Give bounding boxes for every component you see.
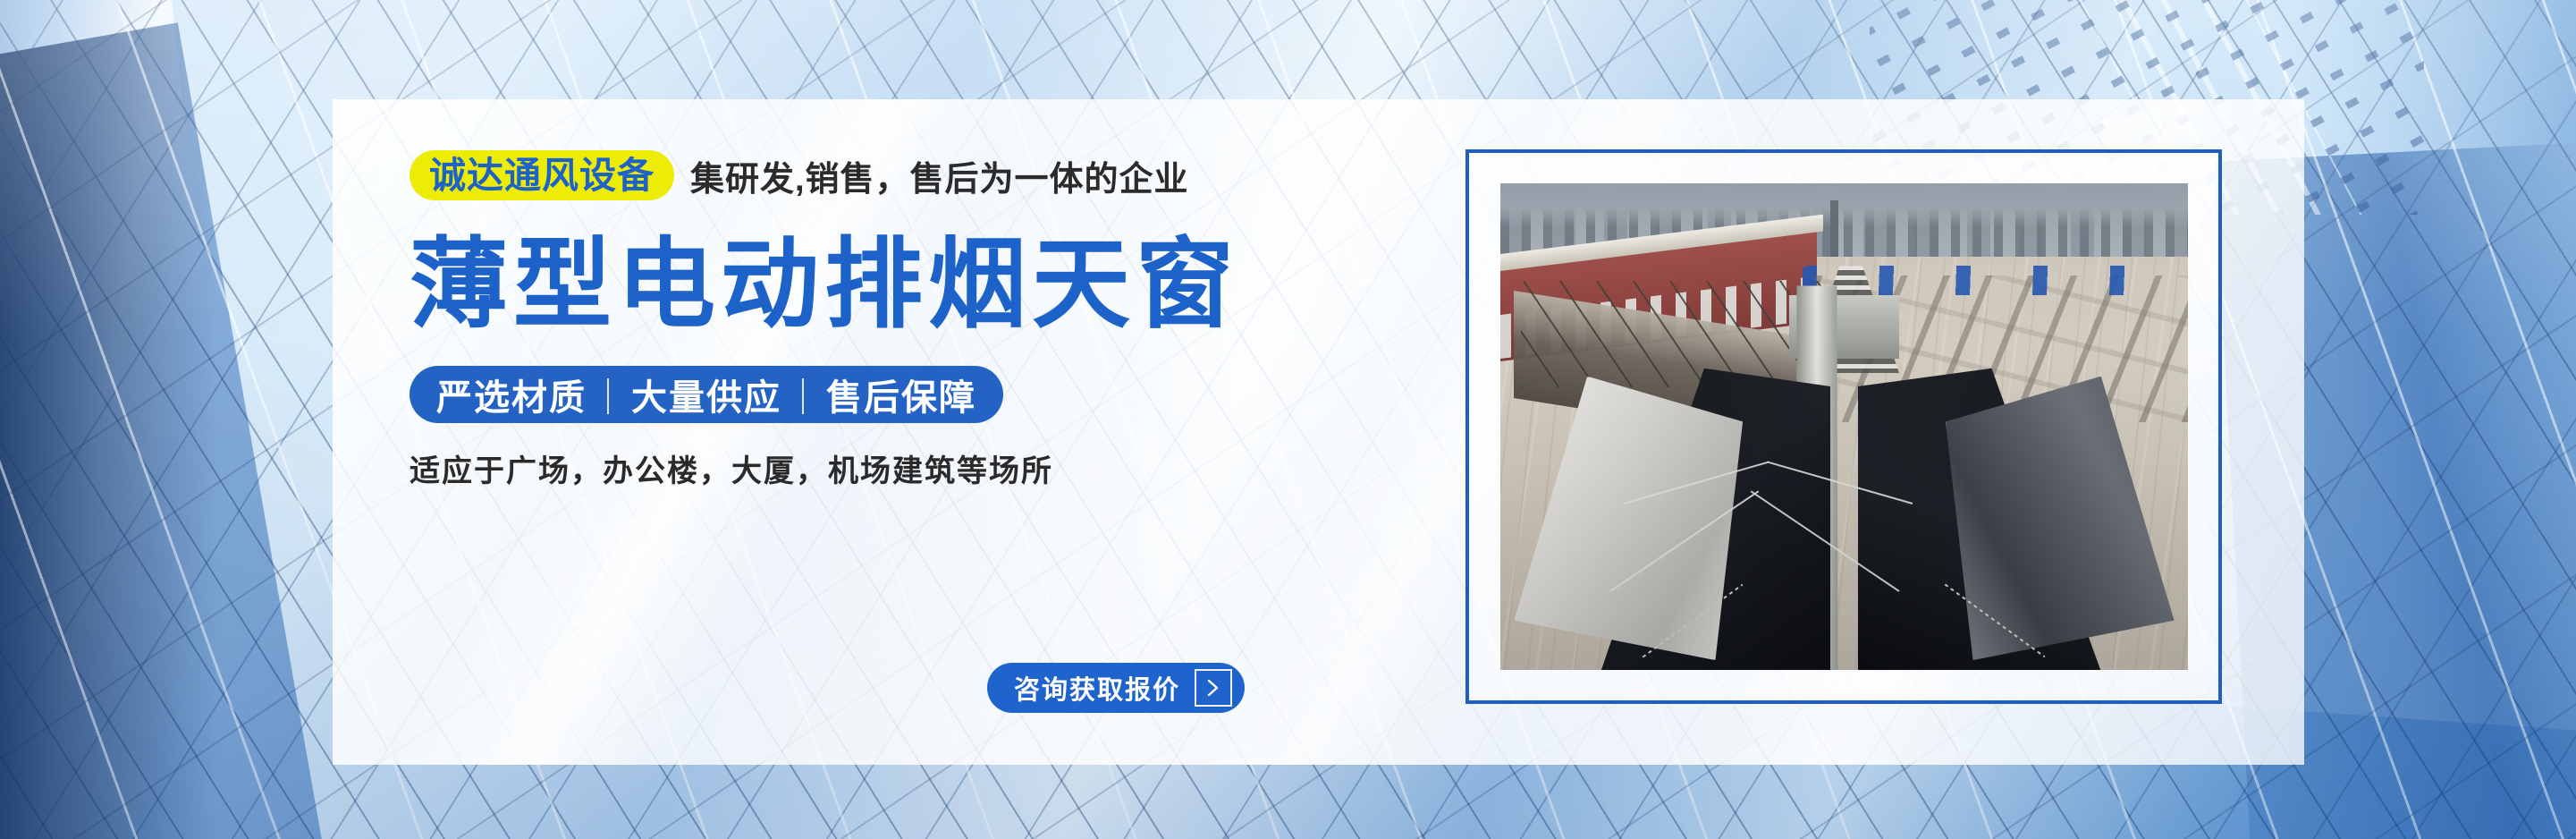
feature-item-1: 严选材质 xyxy=(436,369,587,420)
chevron-right-icon xyxy=(1195,669,1232,707)
product-photo-frame xyxy=(1465,149,2222,704)
tagline-row: 诚达通风设备 集研发,销售，售后为一体的企业 xyxy=(410,143,1384,208)
feature-bar: 严选材质 ｜ 大量供应 ｜ 售后保障 xyxy=(410,366,1003,423)
text-column: 诚达通风设备 集研发,销售，售后为一体的企业 薄型电动排烟天窗 严选材质 ｜ 大… xyxy=(410,143,1384,490)
product-photo xyxy=(1500,183,2188,670)
brand-badge: 诚达通风设备 xyxy=(410,150,674,200)
photo-color-grade xyxy=(1500,183,2188,670)
feature-item-3: 售后保障 xyxy=(826,369,976,420)
feature-item-2: 大量供应 xyxy=(631,369,781,420)
feature-separator-1: ｜ xyxy=(587,369,631,420)
quote-request-button[interactable]: 咨询获取报价 xyxy=(987,663,1245,713)
promo-banner: 诚达通风设备 集研发,销售，售后为一体的企业 薄型电动排烟天窗 严选材质 ｜ 大… xyxy=(0,0,2576,839)
page-title: 薄型电动排烟天窗 xyxy=(410,233,1384,339)
tagline-text: 集研发,销售，售后为一体的企业 xyxy=(690,151,1189,200)
quote-request-label: 咨询获取报价 xyxy=(1014,669,1180,707)
feature-separator-2: ｜ xyxy=(781,369,826,420)
description-text: 适应于广场，办公楼，大厦，机场建筑等场所 xyxy=(410,446,1384,490)
